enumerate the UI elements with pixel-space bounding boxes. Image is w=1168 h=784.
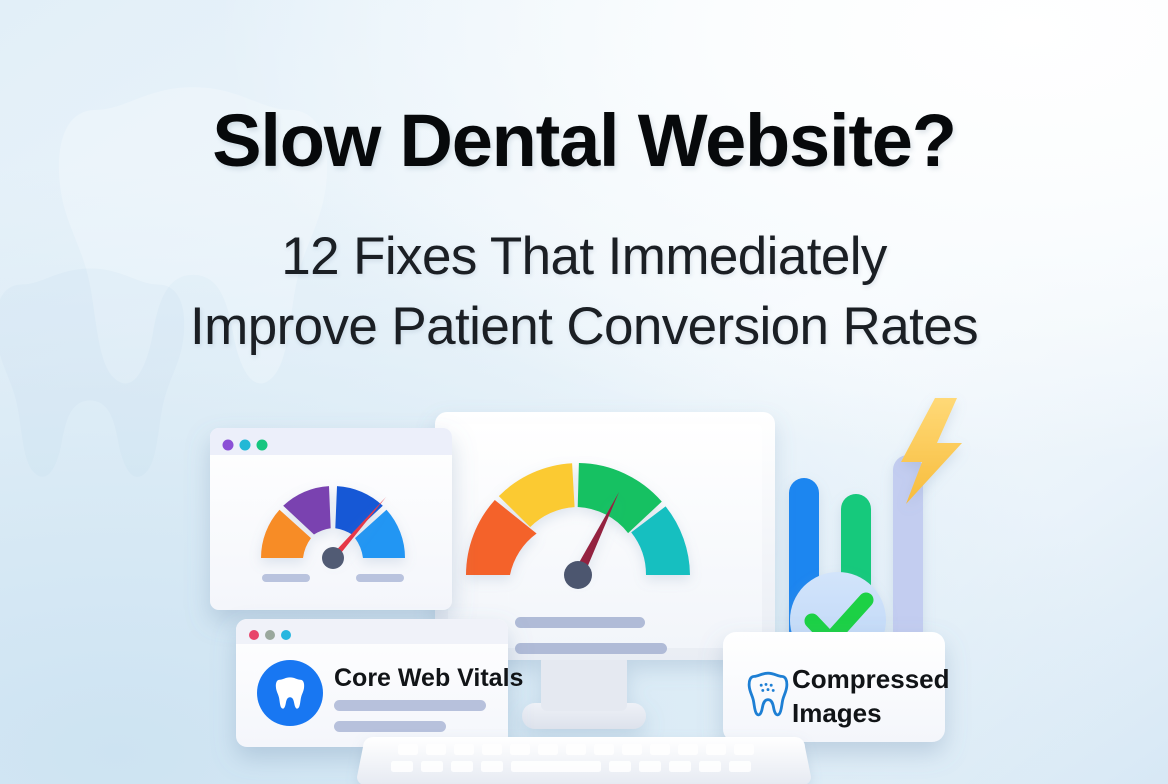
window-dot-green-icon[interactable] bbox=[257, 440, 268, 451]
compressed-images-label-line2: Images bbox=[792, 698, 882, 728]
cwv-card-titlebar bbox=[236, 619, 508, 644]
small-gauge-bar-right bbox=[356, 574, 404, 582]
compressed-images-label-line1: Compressed bbox=[792, 664, 950, 694]
subtitle-block: 12 Fixes That Immediately Improve Patien… bbox=[0, 222, 1168, 362]
subtitle-line-1: 12 Fixes That Immediately bbox=[0, 222, 1168, 292]
screen-bar-1 bbox=[515, 617, 645, 628]
browser-window-gauge[interactable] bbox=[210, 428, 452, 610]
gauge-hub bbox=[564, 561, 592, 589]
monitor-stand-neck bbox=[541, 655, 627, 711]
cwv-dot-red-icon[interactable] bbox=[249, 630, 259, 640]
small-gauge-hub bbox=[322, 547, 344, 569]
cwv-placeholder-bar-2 bbox=[334, 721, 446, 732]
core-web-vitals-label: Core Web Vitals bbox=[334, 664, 523, 692]
cwv-placeholder-bar-1 bbox=[334, 700, 486, 711]
page-title: Slow Dental Website? bbox=[0, 104, 1168, 178]
screen-bar-2 bbox=[515, 643, 667, 654]
browser-window-frame bbox=[210, 428, 452, 610]
hero-graphic: Core Web Vitals Compressed Images bbox=[0, 0, 1168, 784]
window-dot-cyan-icon[interactable] bbox=[240, 440, 251, 451]
headline-block: Slow Dental Website? bbox=[0, 104, 1168, 178]
subtitle-line-2: Improve Patient Conversion Rates bbox=[0, 292, 1168, 362]
window-dot-purple-icon[interactable] bbox=[223, 440, 234, 451]
small-gauge-bar-left bbox=[262, 574, 310, 582]
keyboard[interactable] bbox=[357, 737, 811, 784]
cwv-dot-cyan-icon[interactable] bbox=[281, 630, 291, 640]
cwv-dot-gray-icon[interactable] bbox=[265, 630, 275, 640]
